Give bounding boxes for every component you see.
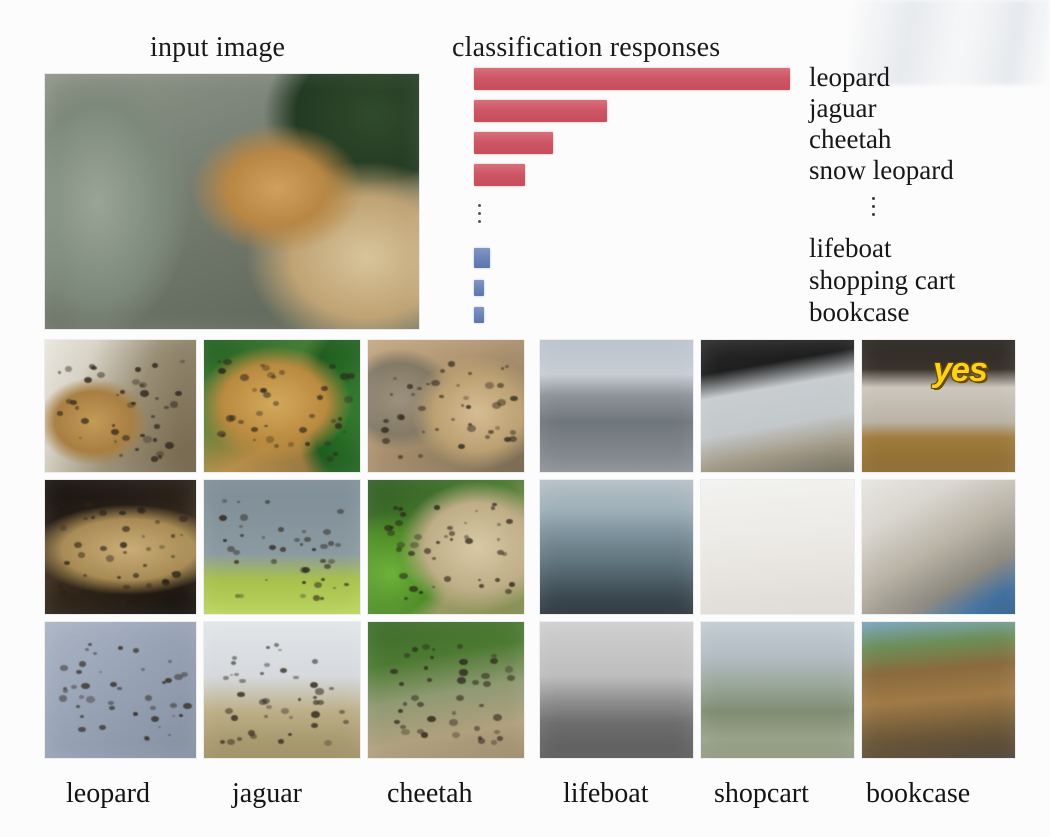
class-label-lifeboat: lifeboat	[809, 233, 891, 264]
grid-cell-right-0-0	[539, 339, 694, 473]
grid-cell-right-1-1	[700, 479, 855, 615]
grid-cell-right-1-0	[539, 479, 694, 615]
photo-softening	[862, 622, 1015, 758]
photo-softening	[45, 74, 419, 329]
figure-canvas: input image classification responses leo…	[0, 0, 1050, 837]
label-ellipsis	[872, 197, 875, 221]
photo-softening	[45, 622, 196, 758]
class-label-cheetah: cheetah	[809, 124, 891, 155]
photo-softening	[701, 480, 854, 614]
photo-softening	[701, 340, 854, 472]
photo-softening	[862, 340, 1015, 472]
photo-softening	[204, 622, 360, 758]
photo-softening	[45, 480, 196, 614]
class-label-jaguar: jaguar	[809, 93, 876, 124]
grid-cell-right-1-2	[861, 479, 1016, 615]
bar-shopping-cart	[474, 280, 484, 296]
bottom-label-jaguar: jaguar	[232, 778, 302, 810]
bottom-label-lifeboat: lifeboat	[563, 778, 649, 810]
bottom-label-bookcase: bookcase	[866, 778, 970, 810]
grid-cell-left-1-1	[203, 479, 361, 615]
grid-cell-left-0-0	[44, 339, 197, 473]
photo-softening	[368, 622, 524, 758]
grid-cell-right-0-1	[700, 339, 855, 473]
bar-cheetah	[474, 132, 553, 154]
input-image-photo	[44, 73, 420, 330]
class-label-shopping-cart: shopping cart	[809, 265, 955, 296]
bar-ellipsis	[478, 204, 482, 228]
photo-softening	[45, 340, 196, 472]
class-label-leopard: leopard	[809, 62, 890, 93]
bottom-label-cheetah: cheetah	[387, 778, 473, 810]
bottom-label-shopcart: shopcart	[714, 778, 809, 810]
bar-bookcase	[474, 307, 484, 323]
grid-cell-left-2-0	[44, 621, 197, 759]
class-label-bookcase: bookcase	[809, 297, 909, 328]
photo-softening	[204, 340, 360, 472]
grid-cell-right-2-0	[539, 621, 694, 759]
photo-softening	[540, 480, 693, 614]
photo-softening	[540, 622, 693, 758]
grid-cell-left-0-1	[203, 339, 361, 473]
photo-softening	[540, 340, 693, 472]
grid-cell-right-2-1	[700, 621, 855, 759]
photo-softening	[701, 622, 854, 758]
grid-cell-right-0-2: yes	[861, 339, 1016, 473]
photo-softening	[368, 480, 524, 614]
class-label-snow-leopard: snow leopard	[809, 155, 954, 186]
right-image-grid: yes	[539, 339, 1014, 759]
photo-softening	[368, 340, 524, 472]
left-image-grid	[44, 339, 525, 759]
bar-leopard	[474, 68, 790, 90]
classification-responses-title: classification responses	[452, 32, 720, 64]
grid-cell-right-2-2	[861, 621, 1016, 759]
input-image-title: input image	[150, 32, 285, 64]
grid-cell-left-1-2	[367, 479, 525, 615]
grid-cell-left-0-2	[367, 339, 525, 473]
photo-softening	[862, 480, 1015, 614]
bottom-label-leopard: leopard	[66, 778, 150, 810]
grid-cell-left-1-0	[44, 479, 197, 615]
bar-jaguar	[474, 100, 607, 122]
bar-lifeboat	[474, 248, 490, 268]
grid-cell-left-2-2	[367, 621, 525, 759]
photo-softening	[204, 480, 360, 614]
bar-snow-leopard	[474, 164, 525, 186]
grid-cell-left-2-1	[203, 621, 361, 759]
classification-bar-chart	[474, 64, 804, 319]
